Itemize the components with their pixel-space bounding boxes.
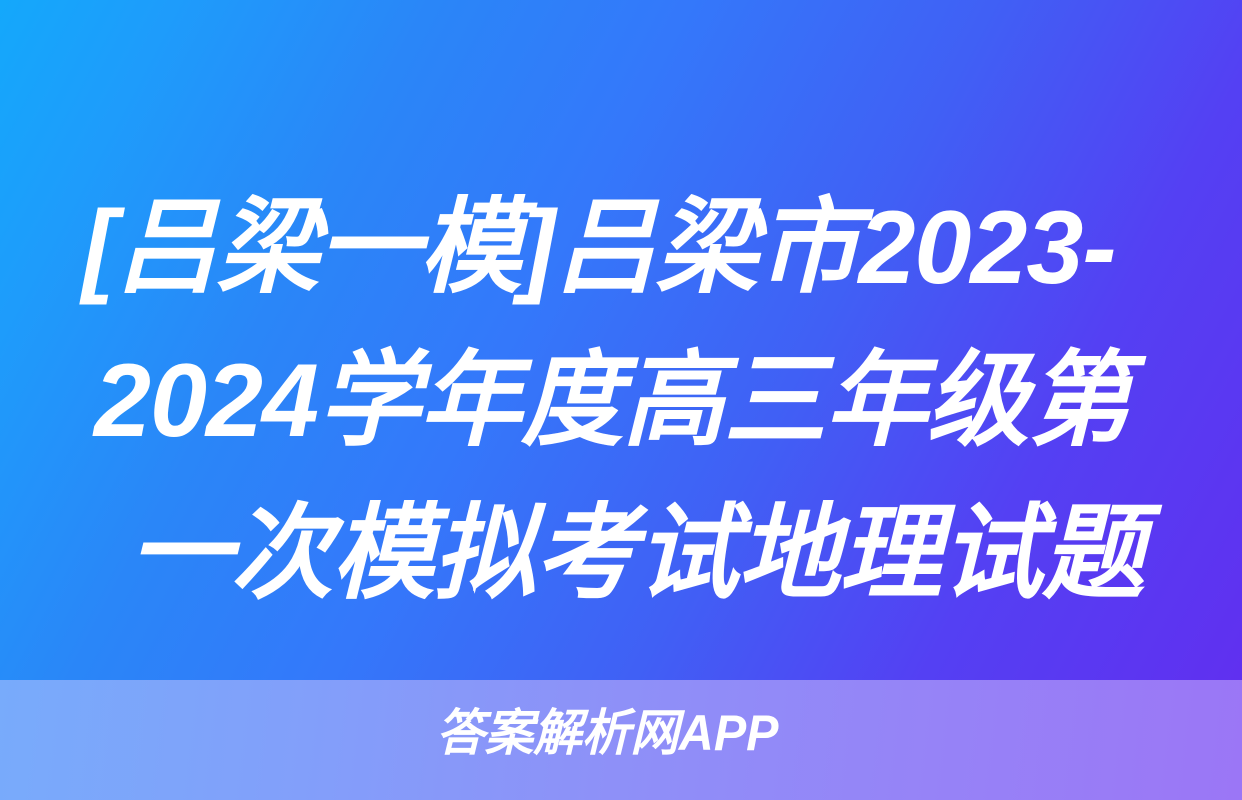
title-line-2: 2024学年度高三年级第: [94, 339, 1156, 463]
watermark: 答案解析网APP: [0, 704, 1242, 762]
exam-cover-poster: [吕梁一模]吕梁市2023- 2024学年度高三年级第 一次模拟考试地理试题 答…: [0, 0, 1242, 800]
title-line-3: 一次模拟考试地理试题: [70, 492, 1144, 616]
title-line-1: [吕梁一模]吕梁市2023-: [82, 186, 1156, 310]
watermark-label: 答案解析网APP: [436, 704, 778, 762]
page-title: [吕梁一模]吕梁市2023- 2024学年度高三年级第 一次模拟考试地理试题: [70, 186, 1172, 616]
